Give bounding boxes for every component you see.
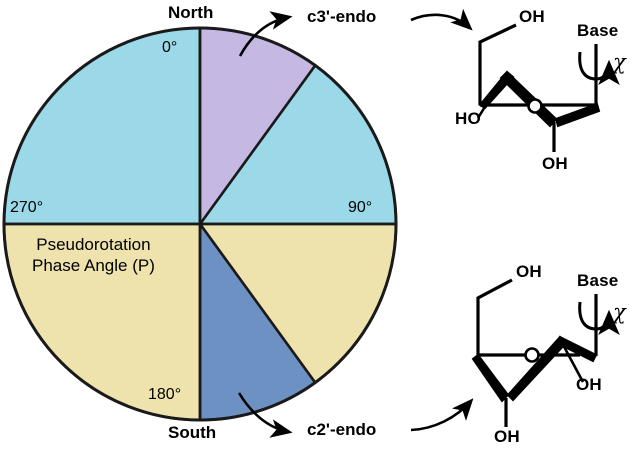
c2-hydroxymethyl-bond <box>478 280 512 355</box>
c2-hydroxymethyl-oh-label: OH <box>516 263 542 280</box>
figure-root: North South 0° 90° 180° 270° Pseudorotat… <box>0 0 630 449</box>
c2-ring-oxygen-icon <box>526 349 539 362</box>
c2-chi-torsion-label: χ <box>613 302 626 323</box>
c2-right-oh-label: OH <box>576 376 602 393</box>
c2-chi-rotation-arrow <box>580 302 609 329</box>
c2-ring-front-wedge-right <box>557 337 596 361</box>
c2-ring-front-wedge-apex <box>508 337 566 400</box>
c2-base-label: Base <box>577 272 618 289</box>
c2-endo-sugar-structure <box>0 0 630 449</box>
c2-bottom-oh-label: OH <box>494 428 520 445</box>
c2-ring-front-wedge-left <box>473 355 508 401</box>
